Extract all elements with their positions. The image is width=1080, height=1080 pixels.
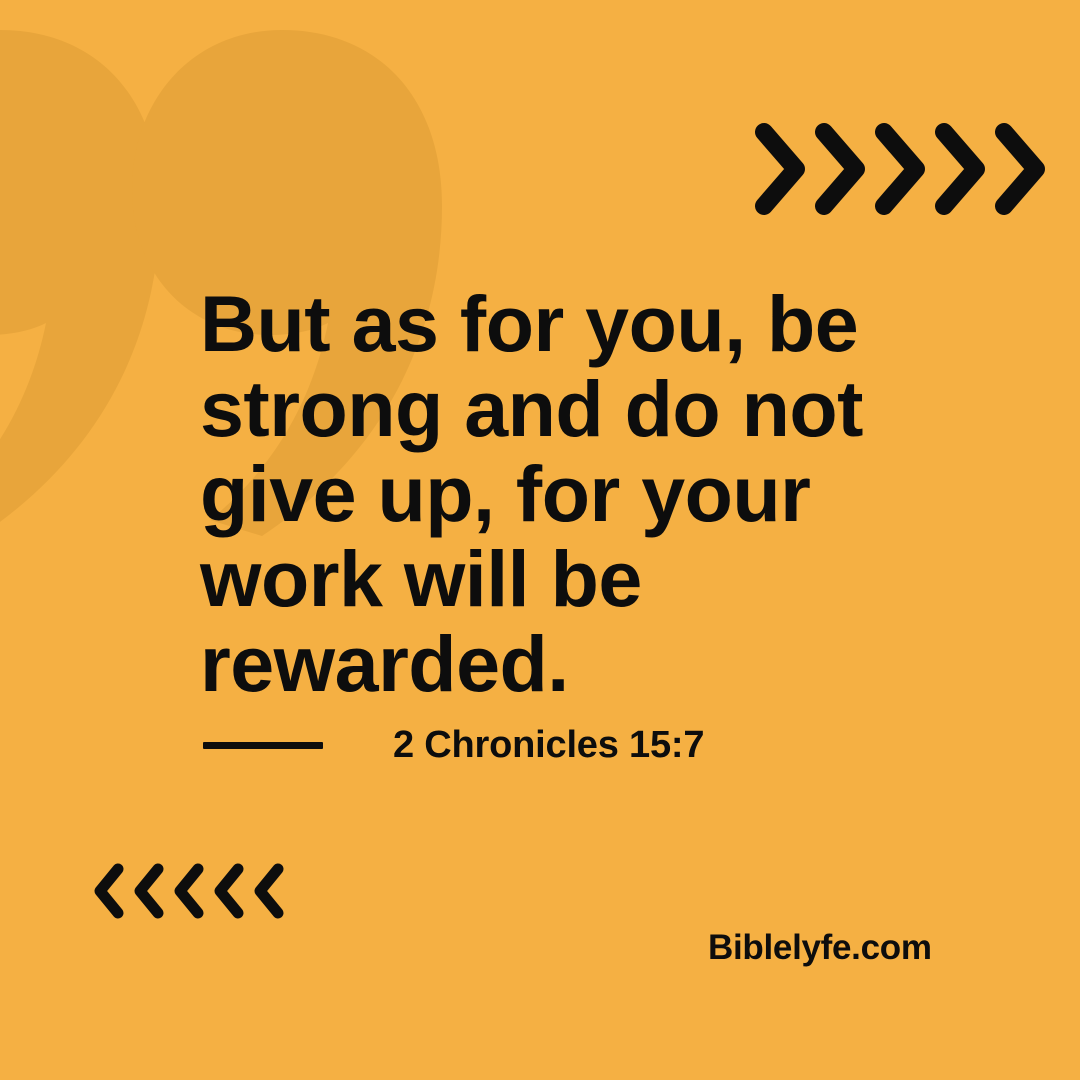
chevron-left-decoration-row [92,862,288,920]
attribution: 2 Chronicles 15:7 [203,720,963,770]
chevron-right-icon [752,120,808,218]
chevron-right-icon [992,120,1048,218]
quote-graphic-canvas: But as for you, be strong and do not giv… [0,0,1080,1080]
chevron-left-icon [252,862,288,920]
chevron-left-icon [212,862,248,920]
scripture-reference: 2 Chronicles 15:7 [393,724,704,767]
chevron-right-decoration-row [752,120,1048,218]
chevron-right-icon [812,120,868,218]
attribution-dash [203,742,323,749]
quote-text: But as for you, be strong and do not giv… [200,281,970,706]
chevron-right-icon [932,120,988,218]
chevron-left-icon [172,862,208,920]
chevron-right-icon [872,120,928,218]
site-watermark: Biblelyfe.com [708,928,932,968]
chevron-left-icon [132,862,168,920]
chevron-left-icon [92,862,128,920]
